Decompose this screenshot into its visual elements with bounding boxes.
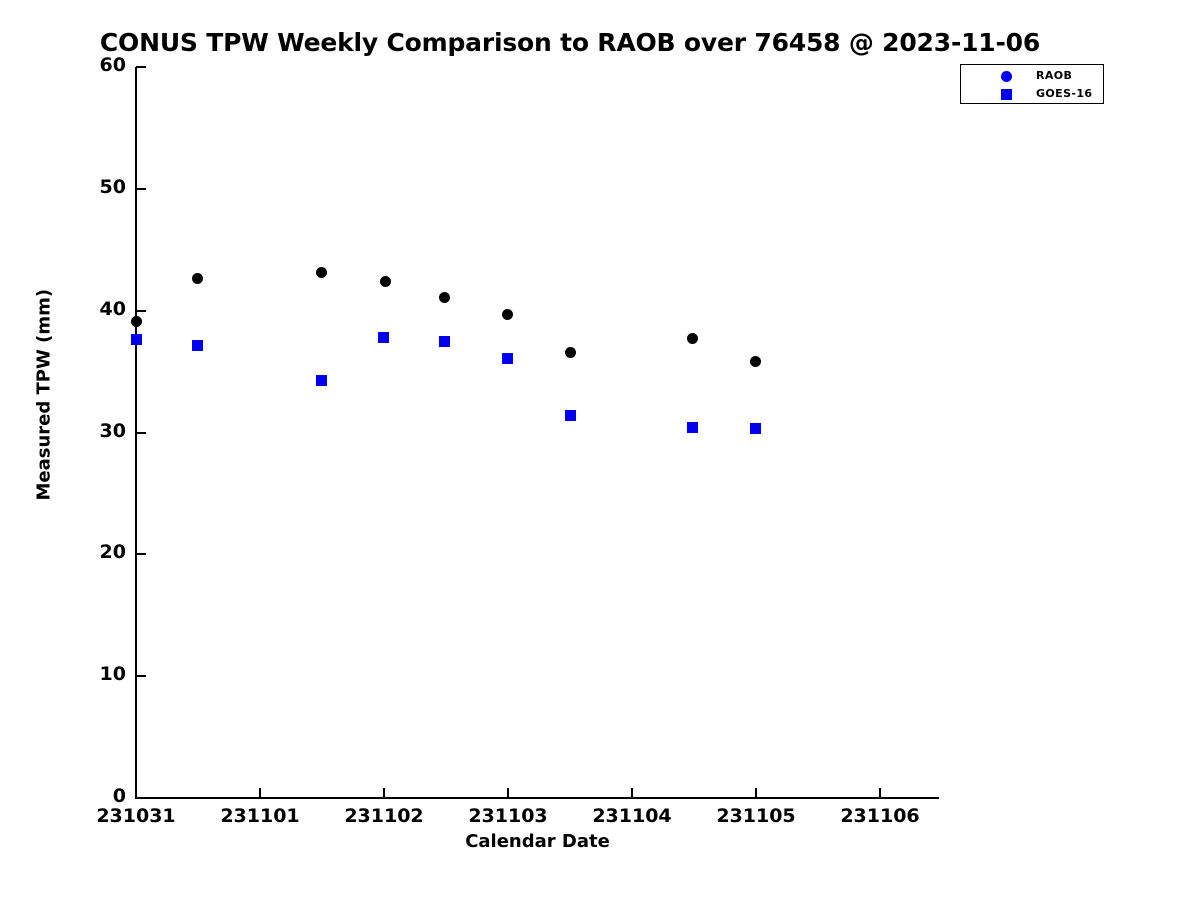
x-axis-tick-label: 231105 [696, 805, 816, 827]
y-axis-tick-label: 20 [60, 541, 126, 563]
legend-entry-goes16: GOES-16 [961, 85, 1105, 103]
legend-label-raob: RAOB [1036, 69, 1072, 82]
y-axis-tick [136, 310, 146, 312]
x-axis-tick [135, 788, 137, 798]
data-point-raob [192, 273, 203, 284]
data-point-goes16 [750, 423, 761, 434]
y-axis-tick-label: 10 [60, 663, 126, 685]
goes16-square-icon [1001, 89, 1012, 100]
y-axis-tick-label: 40 [60, 298, 126, 320]
y-axis-tick [136, 797, 146, 799]
x-axis-tick-label: 231104 [572, 805, 692, 827]
x-axis-tick-label: 231102 [324, 805, 444, 827]
data-point-goes16 [502, 353, 513, 364]
chart-figure: CONUS TPW Weekly Comparison to RAOB over… [0, 0, 1200, 900]
x-axis-tick-label: 231103 [448, 805, 568, 827]
data-point-raob [439, 292, 450, 303]
y-axis-tick-label: 60 [60, 54, 126, 76]
y-axis-tick-label: 30 [60, 420, 126, 442]
legend-label-goes16: GOES-16 [1036, 87, 1093, 100]
x-axis-tick [755, 788, 757, 798]
x-axis-tick-label: 231101 [200, 805, 320, 827]
data-point-goes16 [565, 410, 576, 421]
raob-circle-icon [1001, 71, 1012, 82]
x-axis-tick [631, 788, 633, 798]
x-axis-tick [259, 788, 261, 798]
y-axis-tick [136, 66, 146, 68]
x-axis-title: Calendar Date [136, 831, 939, 852]
data-point-raob [565, 347, 576, 358]
legend-entry-raob: RAOB [961, 67, 1105, 85]
x-axis-tick-label: 231031 [76, 805, 196, 827]
x-axis-tick-label: 231106 [820, 805, 940, 827]
data-point-raob [316, 267, 327, 278]
data-point-raob [131, 316, 142, 327]
y-axis-tick [136, 675, 146, 677]
data-point-goes16 [192, 340, 203, 351]
page-title: CONUS TPW Weekly Comparison to RAOB over… [0, 28, 1140, 57]
x-axis-tick [507, 788, 509, 798]
data-point-raob [380, 276, 391, 287]
y-axis-tick-label: 50 [60, 176, 126, 198]
data-point-raob [750, 356, 761, 367]
y-axis-tick [136, 553, 146, 555]
y-axis-tick [136, 432, 146, 434]
x-axis-tick [383, 788, 385, 798]
data-point-goes16 [131, 334, 142, 345]
y-axis-tick-label: 0 [60, 785, 126, 807]
x-axis-line [136, 797, 939, 799]
data-point-raob [687, 333, 698, 344]
legend: RAOB GOES-16 [960, 64, 1104, 104]
y-axis-tick [136, 188, 146, 190]
y-axis-title: Measured TPW (mm) [34, 301, 55, 501]
data-point-goes16 [687, 422, 698, 433]
data-point-goes16 [378, 332, 389, 343]
data-point-goes16 [439, 336, 450, 347]
data-point-goes16 [316, 375, 327, 386]
x-axis-tick [879, 788, 881, 798]
data-point-raob [502, 309, 513, 320]
